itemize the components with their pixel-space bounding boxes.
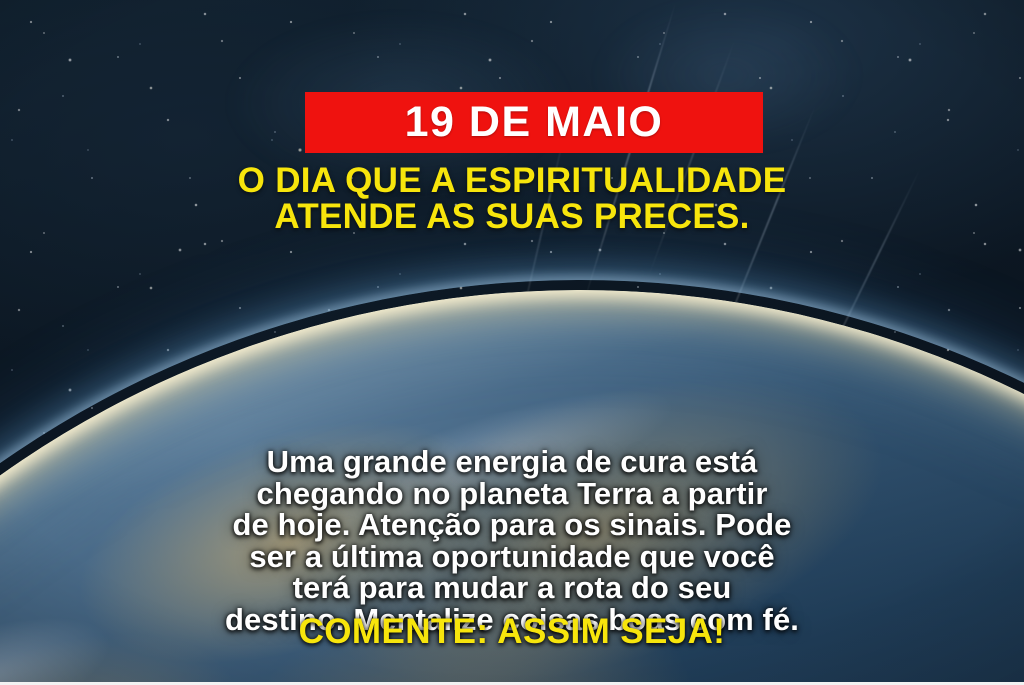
- body-line-4: ser a última oportunidade que você: [0, 541, 1024, 573]
- call-to-action: COMENTE: ASSIM SEJA!: [0, 613, 1024, 651]
- body-line-3: de hoje. Atenção para os sinais. Pode: [0, 509, 1024, 541]
- headline: O DIA QUE A ESPIRITUALIDADE ATENDE AS SU…: [0, 163, 1024, 235]
- poster-image: 19 DE MAIO O DIA QUE A ESPIRITUALIDADE A…: [0, 0, 1024, 685]
- body-line-2: chegando no planeta Terra a partir: [0, 478, 1024, 510]
- call-to-action-label: COMENTE: ASSIM SEJA!: [299, 612, 726, 651]
- body-line-5: terá para mudar a rota do seu: [0, 572, 1024, 604]
- headline-line-1: O DIA QUE A ESPIRITUALIDADE: [0, 163, 1024, 199]
- text-content-layer: 19 DE MAIO O DIA QUE A ESPIRITUALIDADE A…: [0, 0, 1024, 685]
- date-banner: 19 DE MAIO: [305, 92, 763, 153]
- headline-line-2: ATENDE AS SUAS PRECES.: [0, 199, 1024, 235]
- body-line-1: Uma grande energia de cura está: [0, 446, 1024, 478]
- date-banner-label: 19 DE MAIO: [405, 101, 664, 144]
- body-paragraph: Uma grande energia de cura está chegando…: [0, 446, 1024, 635]
